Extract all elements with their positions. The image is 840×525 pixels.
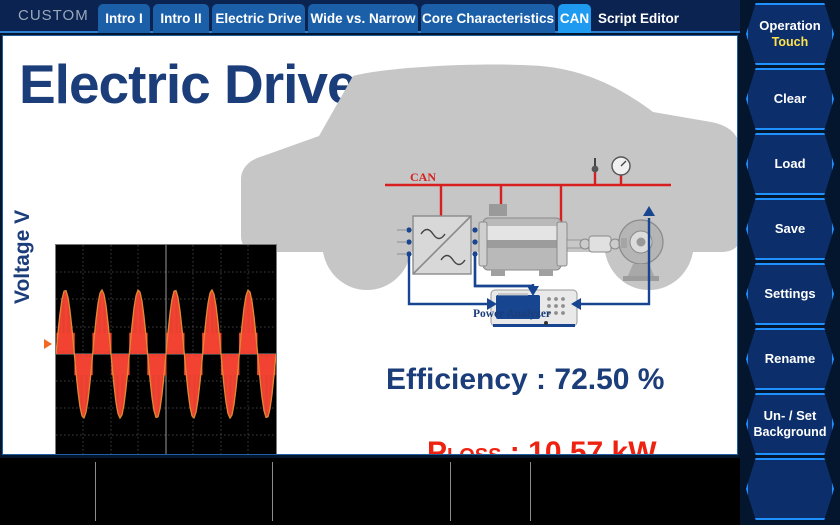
main-content-panel: Electric Drive <box>2 35 738 455</box>
scope-y-axis-label: Voltage V <box>11 210 35 304</box>
ploss-subscript: LOSS <box>447 445 501 455</box>
scope-grid-area <box>55 244 277 455</box>
tab-intro-ii[interactable]: Intro II <box>153 4 209 33</box>
sidebar-button-un-set-background[interactable]: Un- / SetBackground <box>746 393 834 455</box>
motor-icon <box>479 204 581 276</box>
tab-can[interactable]: CAN <box>558 4 591 33</box>
right-sidebar: OperationTouchClearLoadSaveSettingsRenam… <box>740 0 840 525</box>
sidebar-button-button[interactable] <box>746 458 834 520</box>
tab-bar: CUSTOM Intro IIntro IIElectric DriveWide… <box>0 0 740 33</box>
application-root: CUSTOM Intro IIntro IIElectric DriveWide… <box>0 0 840 525</box>
ploss-symbol: P <box>427 436 447 455</box>
tab-intro-i[interactable]: Intro I <box>98 4 150 33</box>
status-divider <box>95 462 96 521</box>
trigger-marker-icon <box>44 339 52 349</box>
status-divider <box>272 462 273 521</box>
sidebar-button-line1: Clear <box>774 90 807 108</box>
sidebar-button-line1: Load <box>774 155 805 173</box>
ploss-separator: : <box>501 436 528 455</box>
sidebar-button-save[interactable]: Save <box>746 198 834 260</box>
tab-electric-drive[interactable]: Electric Drive <box>212 4 305 33</box>
sidebar-button-operation-touch[interactable]: OperationTouch <box>746 3 834 65</box>
ploss-value: 10.57 kW <box>528 436 656 455</box>
tab-script-editor[interactable]: Script Editor <box>594 4 683 33</box>
sidebar-button-line1: Operation <box>759 17 820 35</box>
status-divider <box>450 462 451 521</box>
sidebar-button-settings[interactable]: Settings <box>746 263 834 325</box>
sidebar-button-clear[interactable]: Clear <box>746 68 834 130</box>
can-bus-label: CAN <box>410 170 436 185</box>
custom-label: CUSTOM <box>18 7 89 24</box>
status-bar: Cycle Harm 1 Ctrl Local Grp. 1 Filt50.03… <box>0 458 740 525</box>
sidebar-button-load[interactable]: Load <box>746 133 834 195</box>
gauge-icon <box>612 157 630 175</box>
coupling-icon <box>580 236 620 252</box>
tab-core-characteristics[interactable]: Core Characteristics <box>421 4 555 33</box>
sidebar-button-line1: Settings <box>764 285 815 303</box>
sidebar-button-rename[interactable]: Rename <box>746 328 834 390</box>
sidebar-button-line1: Rename <box>765 350 816 368</box>
tab-wide-vs-narrow[interactable]: Wide vs. Narrow <box>308 4 418 33</box>
status-divider <box>530 462 531 521</box>
sidebar-button-line2: Background <box>754 424 827 441</box>
oscilloscope-display[interactable] <box>55 244 277 455</box>
sidebar-button-line1: Un- / Set <box>764 407 817 425</box>
power-analyzer-label: Power Analyzer <box>473 308 551 320</box>
efficiency-readout: Efficiency : 72.50 % <box>386 363 664 397</box>
sidebar-button-line2: Touch <box>772 34 809 51</box>
power-loss-readout: PLOSS : 10.57 kW <box>427 436 657 455</box>
scope-waveform <box>56 245 276 455</box>
sidebar-button-line1: Save <box>775 220 805 238</box>
sensor-icon <box>592 158 599 172</box>
dynamometer-icon <box>619 220 663 281</box>
